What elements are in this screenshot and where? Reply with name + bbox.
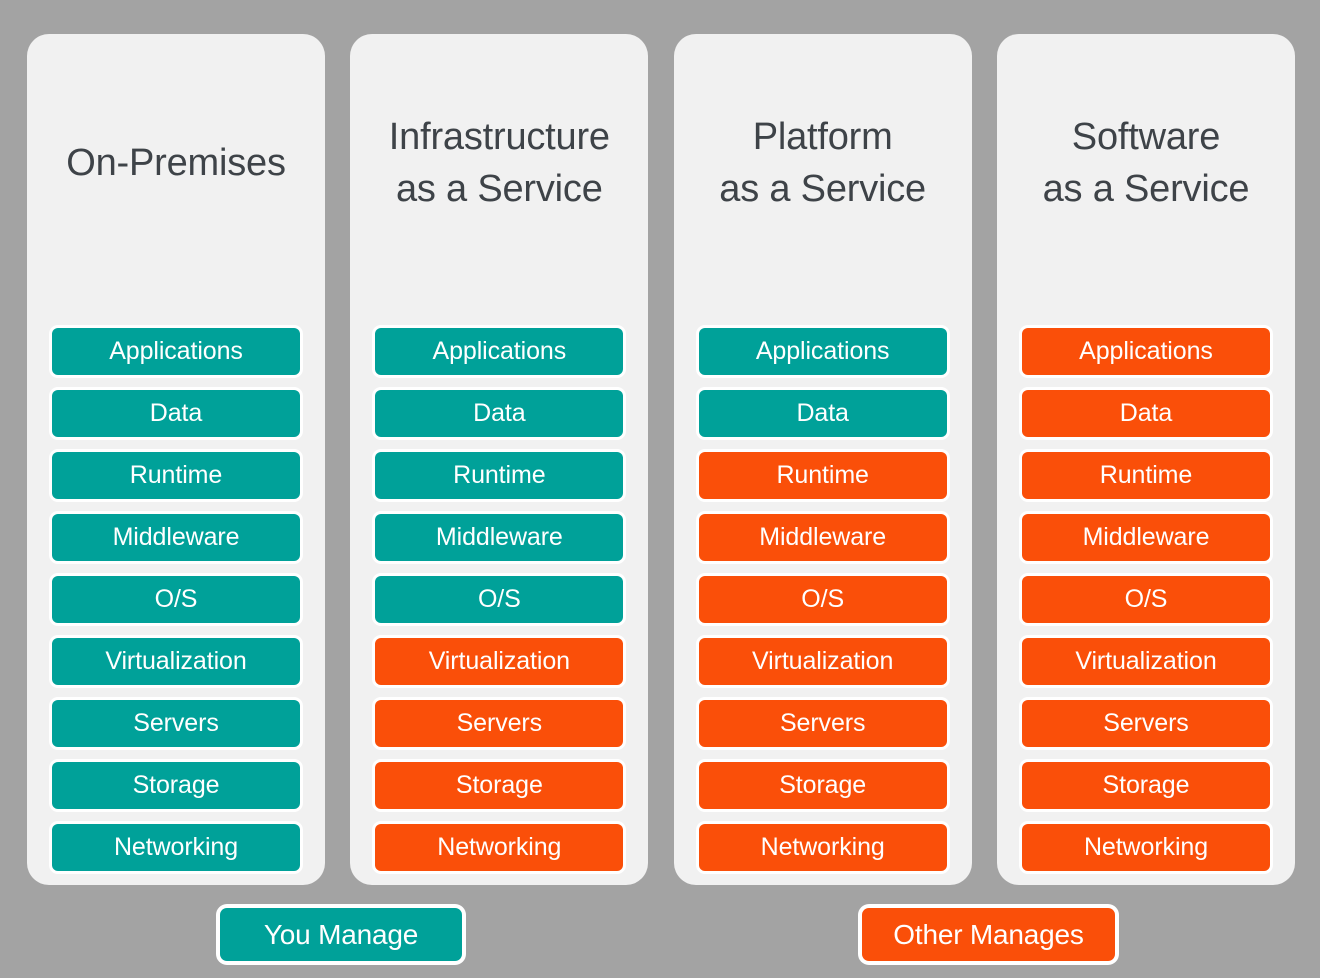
- layer-o-s: O/S: [1022, 576, 1270, 623]
- layer-virtualization: Virtualization: [375, 638, 623, 685]
- card-title: Platform as a Service: [674, 34, 972, 292]
- card-title: Software as a Service: [997, 34, 1295, 292]
- layer-middleware: Middleware: [699, 514, 947, 561]
- layer-o-s: O/S: [699, 576, 947, 623]
- layer-runtime: Runtime: [52, 452, 300, 499]
- layer-data: Data: [699, 390, 947, 437]
- layer-applications: Applications: [52, 328, 300, 375]
- card-title: On-Premises: [27, 34, 325, 292]
- layer-data: Data: [375, 390, 623, 437]
- layer-virtualization: Virtualization: [1022, 638, 1270, 685]
- layer-middleware: Middleware: [52, 514, 300, 561]
- service-model-card-platform-as-a-service: Platform as a ServiceApplicationsDataRun…: [674, 34, 972, 885]
- layer-networking: Networking: [52, 824, 300, 871]
- layer-applications: Applications: [1022, 328, 1270, 375]
- layer-runtime: Runtime: [375, 452, 623, 499]
- layer-data: Data: [52, 390, 300, 437]
- layer-stack: ApplicationsDataRuntimeMiddlewareO/SVirt…: [52, 328, 300, 871]
- layer-o-s: O/S: [52, 576, 300, 623]
- card-title: Infrastructure as a Service: [350, 34, 648, 292]
- layer-servers: Servers: [52, 700, 300, 747]
- layer-networking: Networking: [1022, 824, 1270, 871]
- layer-data: Data: [1022, 390, 1270, 437]
- layer-storage: Storage: [699, 762, 947, 809]
- layer-networking: Networking: [699, 824, 947, 871]
- layer-applications: Applications: [375, 328, 623, 375]
- service-model-card-on-premises: On-PremisesApplicationsDataRuntimeMiddle…: [27, 34, 325, 885]
- layer-virtualization: Virtualization: [699, 638, 947, 685]
- layer-o-s: O/S: [375, 576, 623, 623]
- responsibility-matrix-diagram: On-PremisesApplicationsDataRuntimeMiddle…: [0, 0, 1320, 978]
- service-model-columns: On-PremisesApplicationsDataRuntimeMiddle…: [27, 34, 1295, 885]
- layer-stack: ApplicationsDataRuntimeMiddlewareO/SVirt…: [699, 328, 947, 871]
- layer-stack: ApplicationsDataRuntimeMiddlewareO/SVirt…: [375, 328, 623, 871]
- layer-middleware: Middleware: [1022, 514, 1270, 561]
- layer-storage: Storage: [1022, 762, 1270, 809]
- legend: You Manage Other Manages: [0, 908, 1320, 970]
- layer-networking: Networking: [375, 824, 623, 871]
- layer-storage: Storage: [375, 762, 623, 809]
- layer-storage: Storage: [52, 762, 300, 809]
- layer-applications: Applications: [699, 328, 947, 375]
- legend-you-manage: You Manage: [220, 908, 462, 961]
- legend-other-manages: Other Manages: [862, 908, 1115, 961]
- layer-middleware: Middleware: [375, 514, 623, 561]
- layer-stack: ApplicationsDataRuntimeMiddlewareO/SVirt…: [1022, 328, 1270, 871]
- layer-virtualization: Virtualization: [52, 638, 300, 685]
- layer-servers: Servers: [699, 700, 947, 747]
- service-model-card-infrastructure-as-a-service: Infrastructure as a ServiceApplicationsD…: [350, 34, 648, 885]
- layer-runtime: Runtime: [1022, 452, 1270, 499]
- layer-servers: Servers: [375, 700, 623, 747]
- layer-servers: Servers: [1022, 700, 1270, 747]
- layer-runtime: Runtime: [699, 452, 947, 499]
- service-model-card-software-as-a-service: Software as a ServiceApplicationsDataRun…: [997, 34, 1295, 885]
